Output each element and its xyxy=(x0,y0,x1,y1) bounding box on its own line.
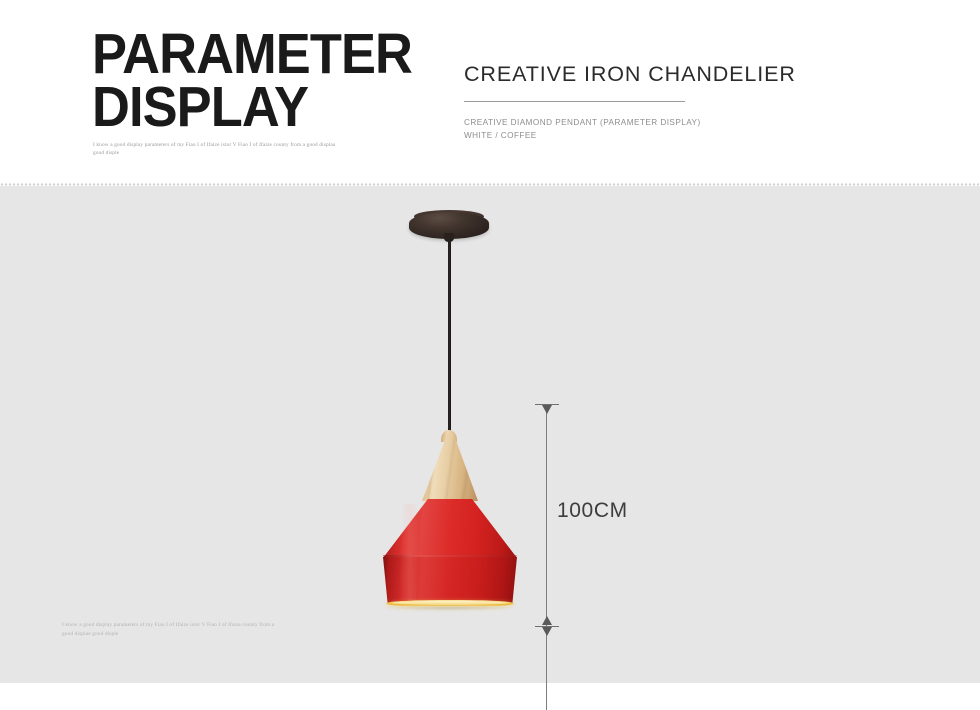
pendant-lamp-illustration xyxy=(345,186,565,646)
product-subtitle: CREATIVE DIAMOND PENDANT (PARAMETER DISP… xyxy=(464,117,894,142)
headline-caption: I know a good display parameters of my F… xyxy=(93,141,338,158)
wood-grain-overlay xyxy=(422,433,478,501)
lamp-drop-shadow xyxy=(387,605,513,611)
arrow-down-icon xyxy=(542,627,552,636)
hanging-cord xyxy=(448,239,451,437)
headline-line-2: DISPLAY xyxy=(92,81,442,134)
product-stage: I know a good display parameters of my F… xyxy=(0,186,980,683)
product-subtitle-line-1: CREATIVE DIAMOND PENDANT (PARAMETER DISP… xyxy=(464,117,894,130)
arrow-down-icon xyxy=(542,405,552,414)
header-section: PARAMETER DISPLAY I know a good display … xyxy=(0,0,980,184)
lamp-shade-highlight xyxy=(399,504,419,600)
drop-height-label: 100CM xyxy=(557,499,628,523)
product-info-group: CREATIVE IRON CHANDELIER CREATIVE DIAMON… xyxy=(464,62,894,142)
product-parameter-display-page: PARAMETER DISPLAY I know a good display … xyxy=(0,0,980,710)
headline-line-1: PARAMETER xyxy=(92,28,442,81)
stage-caption: I know a good display parameters of my F… xyxy=(62,621,277,638)
product-title: CREATIVE IRON CHANDELIER xyxy=(464,62,894,87)
headline-group: PARAMETER DISPLAY xyxy=(92,28,472,134)
product-subtitle-line-2: WHITE / COFFEE xyxy=(464,130,894,143)
title-divider xyxy=(464,101,685,102)
arrow-up-icon xyxy=(542,616,552,625)
vertical-dimension-line xyxy=(546,404,547,710)
